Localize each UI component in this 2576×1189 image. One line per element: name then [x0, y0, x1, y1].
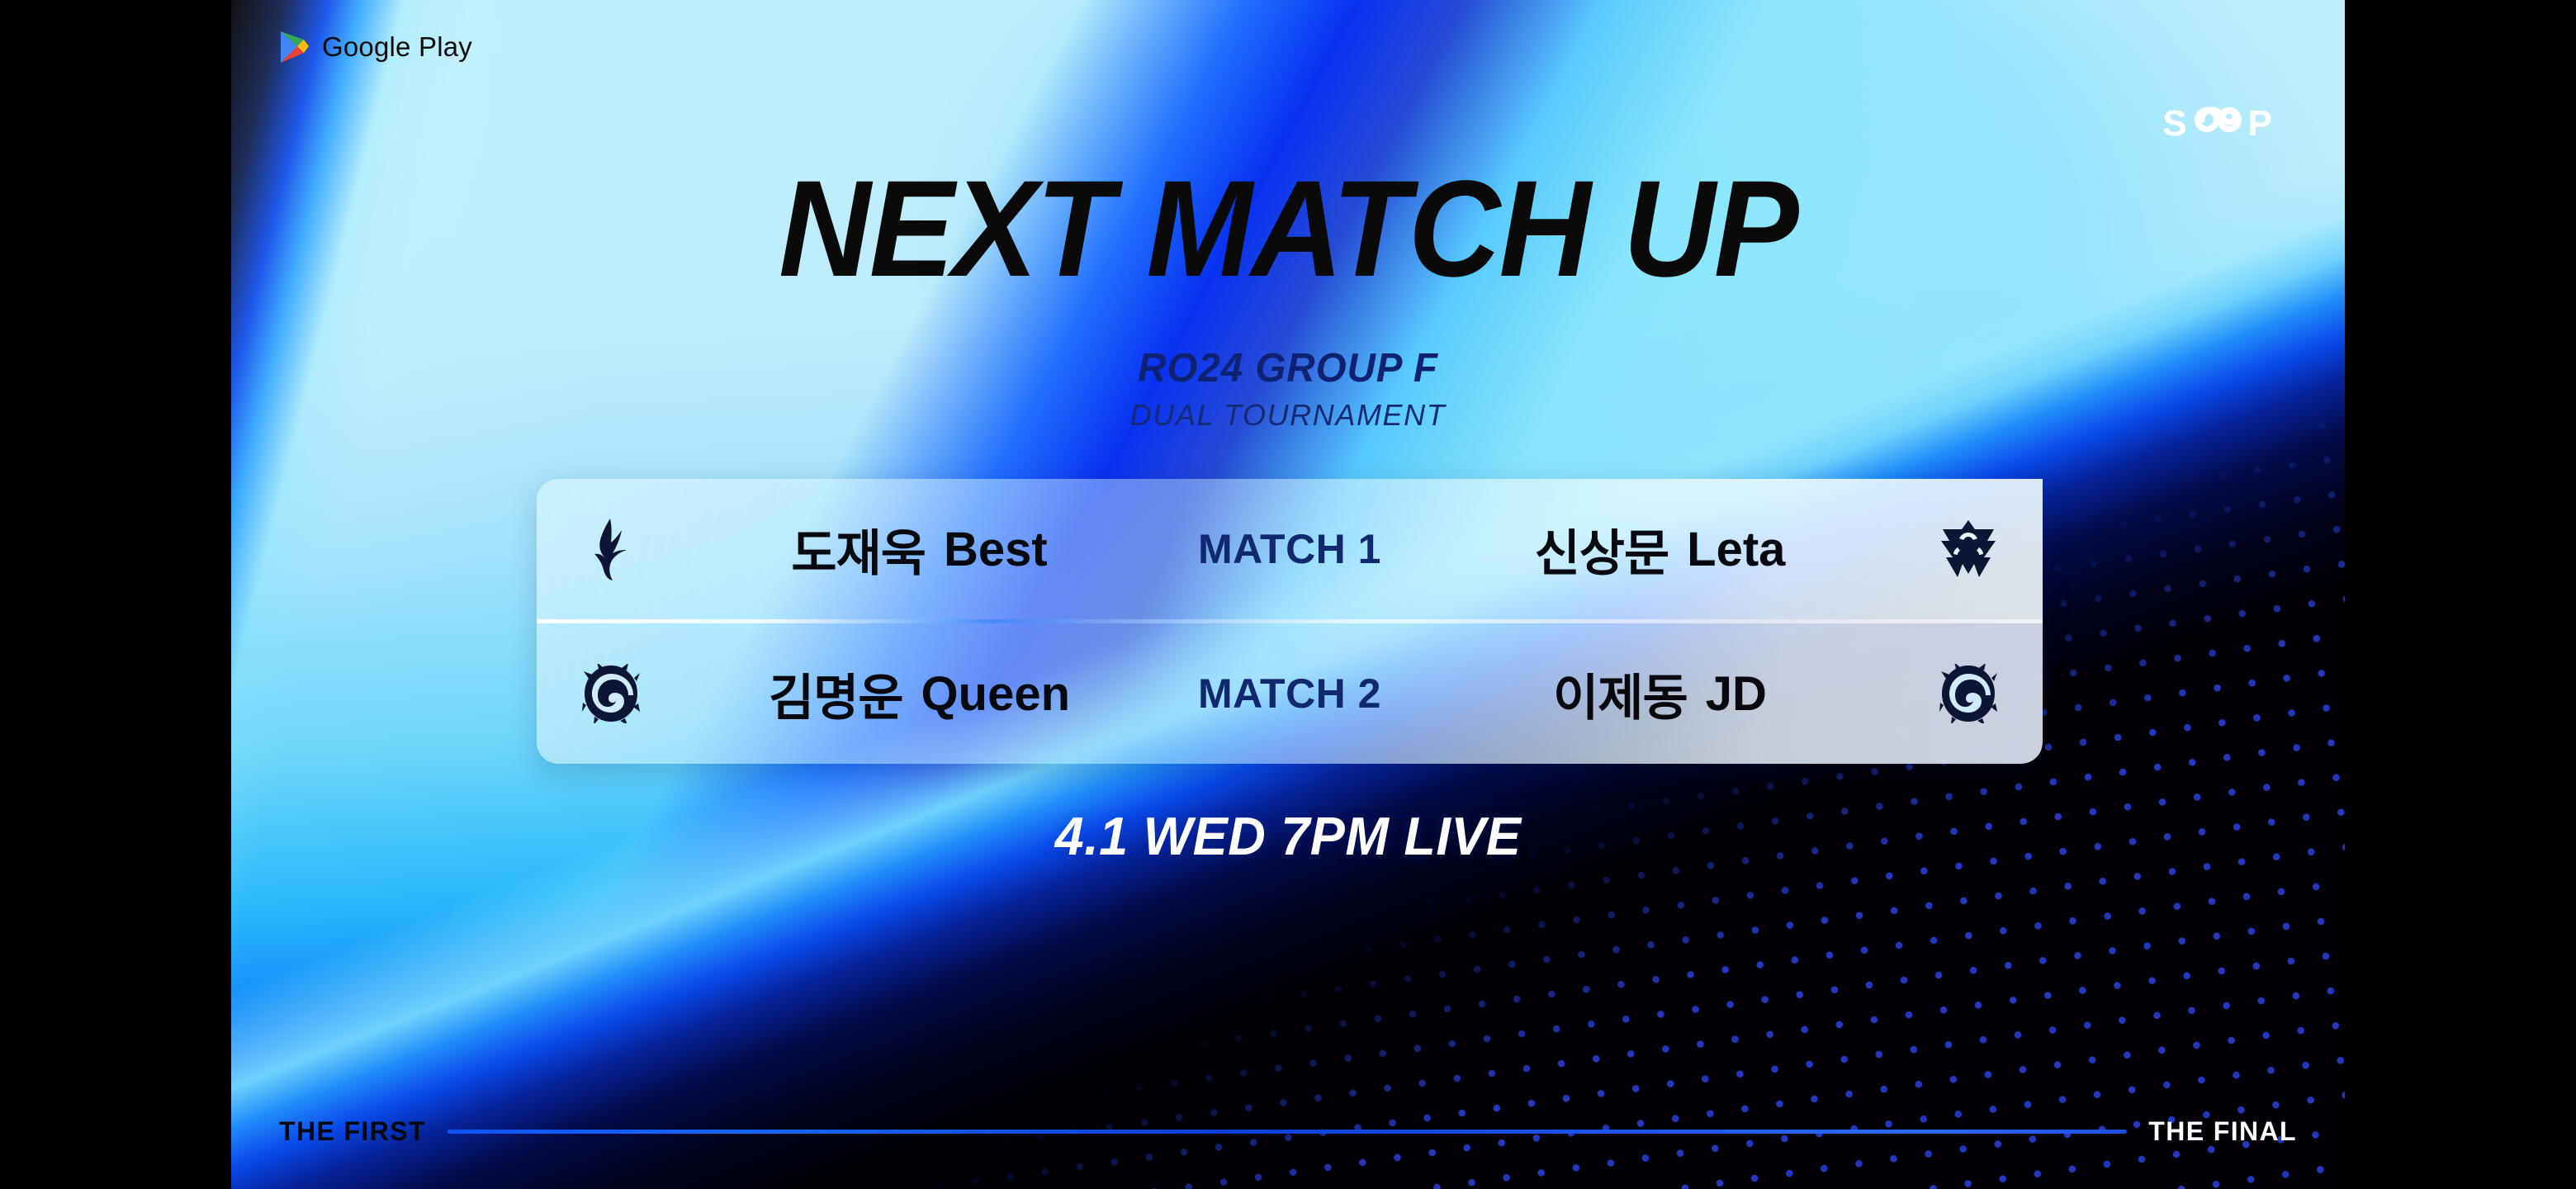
zerg-icon [1939, 664, 1997, 723]
player-nickname: JD [1706, 666, 1767, 722]
table-row: 도재욱 Best MATCH 1 신상문 Leta [537, 479, 2043, 619]
graphic-foreground: Google Play S P NEXT MATCH UP RO24 GROUP… [231, 0, 2345, 1189]
soop-infinity-icon [2193, 103, 2244, 144]
player-nickname: Leta [1687, 522, 1785, 577]
soop-letter-p: P [2248, 103, 2274, 144]
footer-left-label: THE FIRST [279, 1116, 426, 1147]
player-left-match1: 도재욱 Best [685, 514, 1153, 585]
schedule-text: 4.1 WED 7PM LIVE [263, 805, 2313, 867]
player-right-match1: 신상문 Leta [1426, 514, 1894, 585]
table-row: 김명운 Queen MATCH 2 이제동 JD [537, 623, 2043, 764]
tournament-stage-label: RO24 GROUP F [263, 345, 2313, 391]
terran-icon [1938, 519, 1999, 579]
player-name: 도재욱 [791, 514, 926, 585]
google-play-label: Google Play [322, 31, 472, 63]
race-icon-right-match1 [1894, 519, 2043, 579]
match-card: 도재욱 Best MATCH 1 신상문 Leta [537, 479, 2043, 764]
match-label-cell-2: MATCH 2 [1153, 670, 1426, 718]
footer-right-label: THE FINAL [2148, 1116, 2297, 1147]
google-play-logo: Google Play [279, 30, 472, 64]
google-play-triangle-icon [279, 30, 310, 64]
race-icon-right-match2 [1894, 664, 2043, 723]
tournament-format-label: DUAL TOURNAMENT [231, 398, 2345, 433]
player-name: 이제동 [1553, 658, 1688, 730]
page-title: NEXT MATCH UP [305, 161, 2271, 298]
player-left-match2: 김명운 Queen [685, 658, 1153, 730]
player-right-match2: 이제동 JD [1426, 658, 1894, 730]
footer-divider-line [447, 1130, 2127, 1134]
match-label-cell-1: MATCH 1 [1153, 525, 1426, 573]
player-nickname: Best [944, 522, 1048, 577]
protoss-icon [585, 517, 637, 581]
video-player-surface: Google Play S P NEXT MATCH UP RO24 GROUP… [0, 0, 2576, 1189]
race-icon-left-match2 [537, 664, 685, 723]
footer-bar: THE FIRST THE FINAL [279, 1113, 2297, 1149]
race-icon-left-match1 [537, 517, 685, 581]
soop-letter-s: S [2162, 103, 2188, 144]
player-nickname: Queen [921, 666, 1071, 722]
player-name: 김명운 [769, 658, 903, 730]
match-label: MATCH 2 [1198, 670, 1381, 718]
soop-logo: S P [2162, 103, 2274, 144]
player-name: 신상문 [1535, 514, 1669, 585]
zerg-icon [582, 664, 640, 723]
broadcast-graphic-stage: Google Play S P NEXT MATCH UP RO24 GROUP… [231, 0, 2345, 1189]
match-label: MATCH 1 [1198, 525, 1381, 573]
